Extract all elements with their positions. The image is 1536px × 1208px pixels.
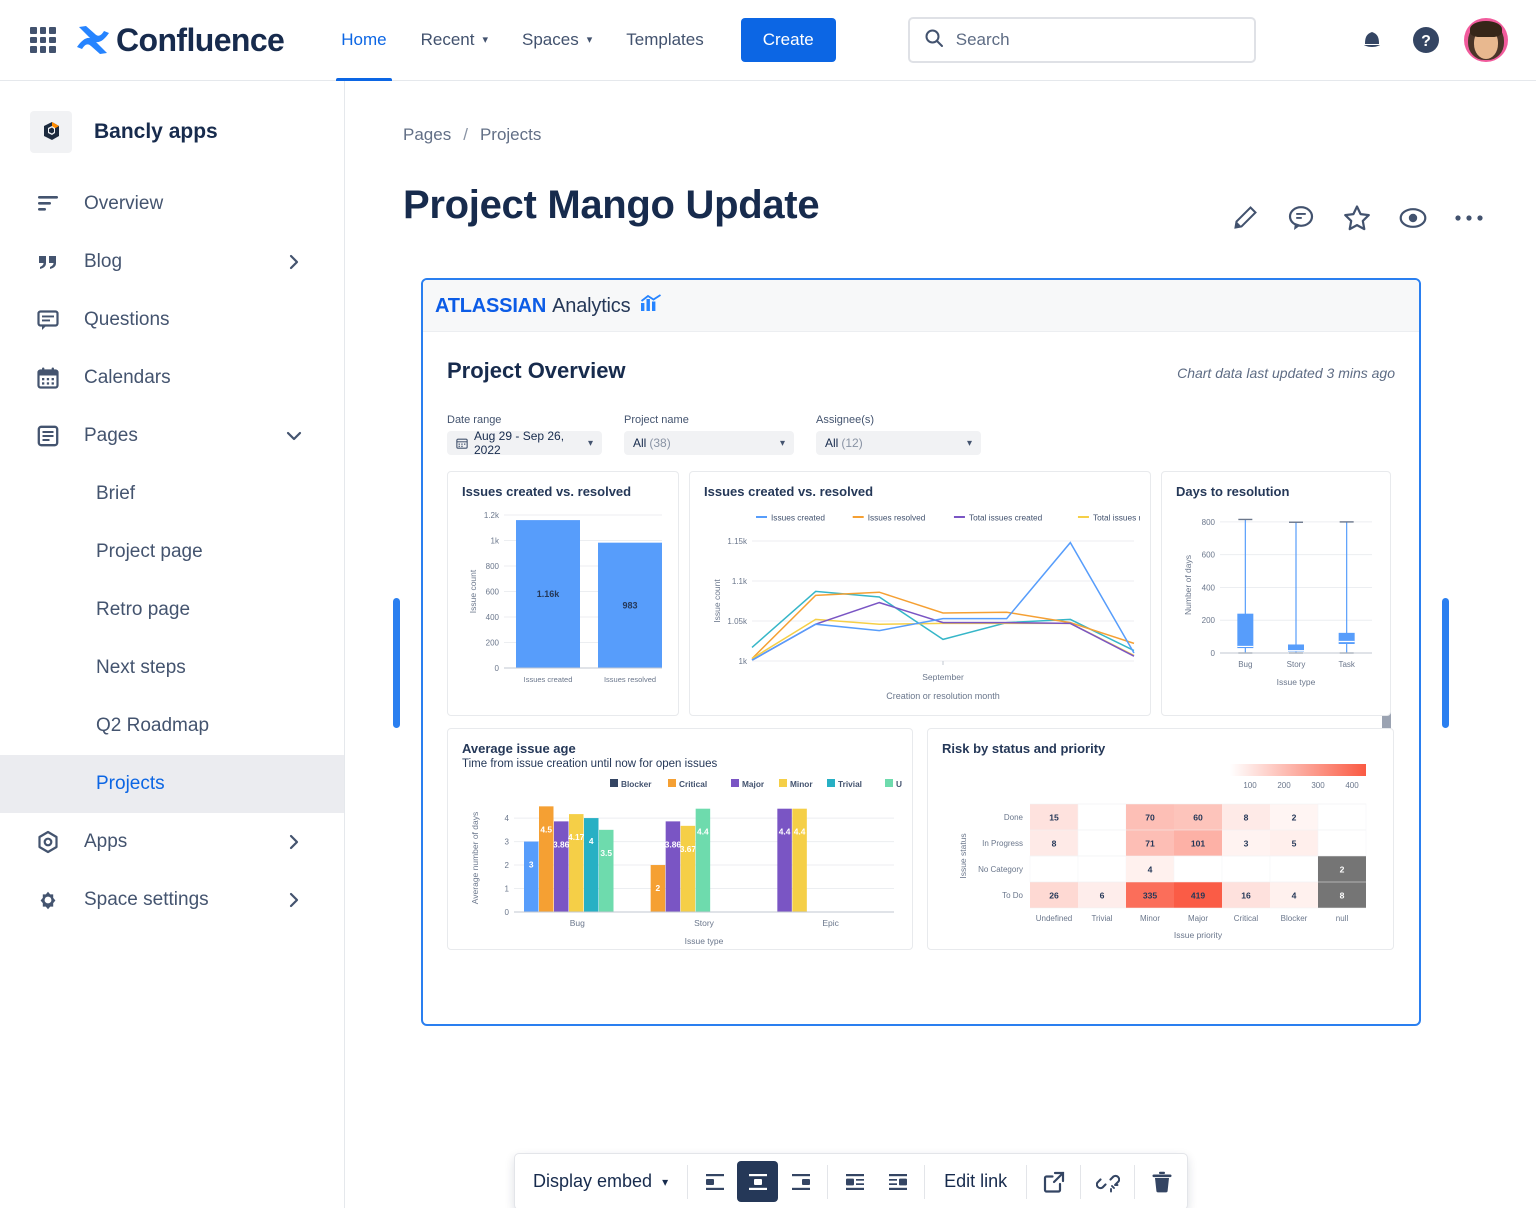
nav-label: Recent [421, 30, 475, 50]
atlassian-analytics-logo: ATLASSIAN Analytics [435, 294, 662, 318]
sidebar-item-questions[interactable]: Questions [0, 291, 344, 349]
svg-text:1.1k: 1.1k [732, 577, 748, 586]
svg-text:1.05k: 1.05k [727, 617, 748, 626]
embed-container: ATLASSIAN Analytics Project Overview Cha… [421, 278, 1421, 1026]
chart-card-issues-created-resolved-line[interactable]: Issues created vs. resolved Issues creat… [689, 471, 1151, 716]
sidebar-item-space-settings[interactable]: Space settings [0, 871, 344, 929]
filter-project-name: Project name All (38) ▾ [624, 414, 794, 455]
svg-text:101: 101 [1191, 838, 1206, 848]
svg-text:100: 100 [1243, 781, 1257, 790]
svg-text:Issue type: Issue type [685, 936, 724, 946]
analytics-embed[interactable]: ATLASSIAN Analytics Project Overview Cha… [421, 278, 1421, 1026]
app-switcher-icon[interactable] [30, 27, 56, 53]
sidebar-item-calendars[interactable]: Calendars [0, 349, 344, 407]
svg-text:Undefined: Undefined [1036, 914, 1072, 923]
chart-title: Days to resolution [1176, 484, 1376, 499]
svg-text:Minor: Minor [1140, 914, 1160, 923]
sidebar-label: Q2 Roadmap [96, 715, 209, 737]
svg-text:Issue type: Issue type [1277, 677, 1316, 687]
blog-quote-icon [36, 250, 66, 274]
comment-icon[interactable] [1286, 203, 1316, 233]
sidebar-label: Brief [96, 483, 135, 505]
more-actions-icon[interactable] [1454, 203, 1484, 233]
chevron-down-icon: ▾ [482, 35, 488, 46]
chart-title: Issues created vs. resolved [704, 484, 1136, 499]
svg-text:600: 600 [486, 588, 500, 597]
svg-text:In Progress: In Progress [982, 839, 1023, 848]
svg-text:Issues created: Issues created [771, 513, 825, 523]
svg-text:200: 200 [1277, 781, 1291, 790]
svg-text:1k: 1k [739, 657, 748, 666]
brand-analytics: Analytics [552, 295, 630, 318]
toolbar-divider [1080, 1165, 1081, 1199]
svg-text:4.4: 4.4 [697, 827, 709, 837]
svg-text:Issue count: Issue count [468, 569, 478, 613]
chart-subtitle: Time from issue creation until now for o… [462, 758, 898, 770]
space-sidebar: Bancly apps Overview Blog Questions [0, 81, 345, 1208]
sidebar-item-next-steps[interactable]: Next steps [0, 639, 344, 697]
sidebar-label: Apps [84, 831, 127, 853]
svg-text:4.17: 4.17 [568, 832, 585, 842]
filter-label: Assignee(s) [816, 414, 981, 426]
dashboard: Project Overview Chart data last updated… [423, 332, 1419, 1026]
svg-text:Minor: Minor [790, 779, 813, 789]
assignees-count: (12) [841, 436, 862, 450]
svg-text:3.67: 3.67 [680, 844, 697, 854]
nav-item-recent[interactable]: Recent ▾ [404, 0, 505, 81]
pages-icon [36, 424, 66, 448]
edit-pencil-icon[interactable] [1230, 203, 1260, 233]
toolbar-divider [827, 1165, 828, 1199]
analytics-chart-icon [640, 294, 662, 317]
svg-text:4.5: 4.5 [540, 824, 552, 834]
svg-text:Epic: Epic [822, 918, 839, 928]
sidebar-item-projects[interactable]: Projects [0, 755, 344, 813]
chevron-right-icon[interactable] [286, 892, 302, 908]
svg-text:Bug: Bug [1238, 660, 1252, 669]
boxplot-svg: 0200400600800BugStoryTaskIssue typeNumbe… [1176, 503, 1380, 711]
gear-icon [36, 888, 66, 912]
svg-text:400: 400 [1345, 781, 1359, 790]
breadcrumb: Pages / Projects [345, 81, 1536, 145]
svg-text:70: 70 [1145, 812, 1155, 822]
chevron-down-icon: ▾ [967, 438, 972, 449]
svg-text:1.16k: 1.16k [537, 589, 561, 599]
chevron-down-icon: ▾ [780, 438, 785, 449]
sidebar-label: Retro page [96, 599, 190, 621]
svg-text:4: 4 [589, 836, 594, 846]
svg-text:Bug: Bug [570, 918, 585, 928]
svg-text:2: 2 [656, 883, 661, 893]
svg-text:6: 6 [1100, 890, 1105, 900]
nav-item-templates[interactable]: Templates [609, 0, 720, 81]
chart-title: Issues created vs. resolved [462, 484, 664, 499]
nav-right-actions: ? [1356, 18, 1508, 62]
avatar[interactable] [1464, 18, 1508, 62]
svg-text:4.4: 4.4 [794, 827, 806, 837]
nav-label: Home [341, 30, 386, 50]
brand-atlassian: ATLASSIAN [435, 295, 546, 318]
sidebar-label: Next steps [96, 657, 186, 679]
svg-text:Trivial: Trivial [838, 779, 862, 789]
svg-text:983: 983 [622, 600, 637, 610]
breadcrumb-projects[interactable]: Projects [480, 125, 541, 145]
confluence-mark-icon [76, 25, 110, 55]
chevron-down-icon: ▾ [588, 438, 593, 449]
svg-text:No Category: No Category [978, 865, 1023, 874]
global-navigation: Confluence Home Recent ▾ Spaces ▾ Templa… [0, 0, 1536, 81]
svg-text:Blocker: Blocker [1281, 914, 1308, 923]
project-name-select[interactable]: All (38) ▾ [624, 431, 794, 455]
svg-text:335: 335 [1143, 890, 1158, 900]
sidebar-label: Space settings [84, 889, 209, 911]
nav-item-spaces[interactable]: Spaces ▾ [505, 0, 609, 81]
date-range-select[interactable]: Aug 29 - Sep 26, 2022 ▾ [447, 431, 602, 455]
svg-text:200: 200 [486, 639, 500, 648]
svg-text:4: 4 [1292, 890, 1297, 900]
toolbar-divider [924, 1165, 925, 1199]
filter-date-range: Date range Aug 29 - Sep 26, 2022 ▾ [447, 414, 602, 455]
svg-text:400: 400 [486, 613, 500, 622]
svg-text:Blocker: Blocker [621, 779, 652, 789]
sidebar-item-pages[interactable]: Pages [0, 407, 344, 465]
brand-name: Confluence [116, 22, 284, 59]
page-content: Pages / Projects Project Mango Update [345, 81, 1536, 1208]
svg-text:419: 419 [1191, 890, 1206, 900]
sidebar-label: Calendars [84, 367, 171, 389]
svg-text:Major: Major [1188, 914, 1208, 923]
svg-text:Critical: Critical [1234, 914, 1259, 923]
svg-text:2: 2 [505, 861, 510, 870]
nav-item-home[interactable]: Home [324, 0, 403, 81]
open-external-icon[interactable] [1033, 1161, 1074, 1202]
primary-nav: Home Recent ▾ Spaces ▾ Templates Create [324, 0, 836, 81]
charts-area: Issues created vs. resolved 020040060080… [447, 471, 1395, 950]
svg-text:Total issues created: Total issues created [969, 513, 1043, 523]
svg-text:Number of days: Number of days [1183, 555, 1193, 615]
svg-text:Issues resolved: Issues resolved [604, 675, 656, 684]
sidebar-label: Questions [84, 309, 170, 331]
svg-text:Done: Done [1004, 813, 1024, 822]
apps-icon [36, 830, 66, 854]
svg-text:1.15k: 1.15k [727, 537, 748, 546]
svg-text:300: 300 [1311, 781, 1325, 790]
svg-text:To Do: To Do [1002, 891, 1023, 900]
svg-text:0: 0 [505, 908, 510, 917]
embed-header: ATLASSIAN Analytics [423, 280, 1419, 332]
svg-text:2: 2 [1292, 812, 1297, 822]
svg-text:71: 71 [1145, 838, 1155, 848]
svg-text:800: 800 [1202, 518, 1216, 527]
line-chart-svg: Issues createdIssues resolvedTotal issue… [704, 503, 1140, 711]
page-actions [1230, 203, 1484, 233]
chevron-right-icon[interactable] [286, 254, 302, 270]
space-name: Bancly apps [94, 120, 218, 144]
trash-icon[interactable] [1141, 1161, 1182, 1202]
chart-card-issues-created-resolved-bar[interactable]: Issues created vs. resolved 020040060080… [447, 471, 679, 716]
sidebar-label: Project page [96, 541, 203, 563]
svg-text:Average number of days: Average number of days [470, 812, 480, 904]
resize-handle-right[interactable] [1442, 598, 1449, 728]
svg-text:4: 4 [505, 814, 510, 823]
assignees-value: All [825, 436, 838, 450]
align-right-button[interactable] [780, 1161, 821, 1202]
toolbar-divider [1134, 1165, 1135, 1199]
watch-eye-icon[interactable] [1398, 203, 1428, 233]
sidebar-item-project-page[interactable]: Project page [0, 523, 344, 581]
svg-text:600: 600 [1202, 551, 1216, 560]
date-range-value: Aug 29 - Sep 26, 2022 [474, 429, 588, 457]
last-updated-text: Chart data last updated 3 mins ago [1177, 365, 1395, 381]
svg-text:5: 5 [1292, 838, 1297, 848]
filter-label: Project name [624, 414, 794, 426]
chart-card-average-issue-age[interactable]: Average issue age Time from issue creati… [447, 728, 913, 950]
svg-text:16: 16 [1241, 890, 1251, 900]
sidebar-item-overview[interactable]: Overview [0, 175, 344, 233]
svg-text:Task: Task [1338, 660, 1355, 669]
svg-text:?: ? [1421, 33, 1431, 50]
sidebar-label: Blog [84, 251, 122, 273]
svg-text:Undefined: Undefined [896, 779, 902, 789]
svg-text:3: 3 [1244, 838, 1249, 848]
svg-text:Trivial: Trivial [1091, 914, 1112, 923]
bell-icon[interactable] [1356, 24, 1388, 56]
heatmap-svg: 100200300400Done15706082In Progress87110… [942, 758, 1384, 948]
confluence-logo[interactable]: Confluence [76, 22, 284, 59]
calendar-icon [36, 366, 66, 390]
display-embed-dropdown[interactable]: Display embed ▾ [519, 1161, 682, 1202]
svg-text:400: 400 [1202, 583, 1216, 592]
space-header[interactable]: Bancly apps [0, 89, 344, 175]
wrap-right-button[interactable] [877, 1161, 918, 1202]
svg-text:4: 4 [1148, 864, 1153, 874]
svg-text:Major: Major [742, 779, 765, 789]
svg-text:1k: 1k [491, 537, 500, 546]
search-icon [924, 28, 944, 53]
grouped-bar-chart-svg: BlockerCriticalMajorMinorTrivialUndefine… [462, 772, 902, 952]
chevron-down-icon: ▾ [587, 35, 593, 46]
calendar-icon [456, 437, 468, 449]
sidebar-label: Overview [84, 193, 163, 215]
nav-label: Templates [626, 30, 703, 50]
search-input[interactable]: Search [908, 17, 1256, 63]
dashboard-filters: Date range Aug 29 - Sep 26, 2022 ▾ Proje… [447, 414, 1395, 455]
create-button[interactable]: Create [741, 18, 836, 62]
svg-text:60: 60 [1193, 812, 1203, 822]
svg-text:Issue status: Issue status [958, 833, 968, 878]
unlink-icon[interactable] [1087, 1161, 1128, 1202]
help-icon[interactable]: ? [1410, 24, 1442, 56]
svg-text:8: 8 [1052, 838, 1057, 848]
chart-title: Average issue age [462, 741, 898, 756]
align-center-button[interactable] [737, 1161, 778, 1202]
svg-text:Issues resolved: Issues resolved [868, 513, 926, 523]
svg-text:200: 200 [1202, 616, 1216, 625]
svg-text:Total issues resolved: Total issues resolved [1093, 513, 1140, 523]
svg-text:8: 8 [1340, 890, 1345, 900]
toolbar-divider [1026, 1165, 1027, 1199]
svg-text:4.4: 4.4 [779, 827, 791, 837]
chart-title: Risk by status and priority [942, 741, 1379, 756]
svg-text:Issue priority: Issue priority [1174, 930, 1223, 940]
chevron-right-icon[interactable] [286, 834, 302, 850]
svg-text:1.2k: 1.2k [484, 511, 500, 520]
sidebar-item-brief[interactable]: Brief [0, 465, 344, 523]
sidebar-label: Projects [96, 773, 165, 795]
sidebar-item-q2-roadmap[interactable]: Q2 Roadmap [0, 697, 344, 755]
questions-icon [36, 308, 66, 332]
breadcrumb-pages[interactable]: Pages [403, 125, 451, 145]
align-left-button[interactable] [694, 1161, 735, 1202]
svg-text:800: 800 [486, 562, 500, 571]
chart-card-risk-by-status-priority[interactable]: Risk by status and priority 100200300400… [927, 728, 1394, 950]
svg-text:3: 3 [505, 838, 510, 847]
breadcrumb-separator: / [463, 125, 468, 145]
star-icon[interactable] [1342, 203, 1372, 233]
svg-text:Issue count: Issue count [712, 579, 722, 623]
svg-text:3.5: 3.5 [600, 848, 612, 858]
svg-text:Critical: Critical [679, 779, 707, 789]
sidebar-item-blog[interactable]: Blog [0, 233, 344, 291]
filter-label: Date range [447, 414, 602, 426]
assignees-select[interactable]: All (12) ▾ [816, 431, 981, 455]
svg-text:1: 1 [505, 885, 510, 894]
project-name-count: (38) [649, 436, 670, 450]
svg-text:8: 8 [1244, 812, 1249, 822]
sidebar-label: Pages [84, 425, 138, 447]
overview-icon [36, 192, 66, 216]
svg-text:null: null [1336, 914, 1349, 923]
wrap-left-button[interactable] [834, 1161, 875, 1202]
svg-text:Story: Story [694, 918, 715, 928]
project-name-value: All [633, 436, 646, 450]
chevron-down-icon[interactable] [286, 428, 302, 444]
svg-text:0: 0 [495, 664, 500, 673]
chevron-down-icon: ▾ [662, 1175, 668, 1189]
svg-text:26: 26 [1049, 890, 1059, 900]
bar-chart-svg: 02004006008001k1.2k1.16kIssues created98… [462, 503, 668, 711]
search-placeholder: Search [956, 30, 1010, 50]
space-avatar-icon [30, 111, 72, 153]
toolbar-divider [687, 1165, 688, 1199]
svg-text:Creation or resolution month: Creation or resolution month [886, 691, 1000, 701]
resize-handle-left[interactable] [393, 598, 400, 728]
display-embed-label: Display embed [533, 1171, 652, 1192]
svg-text:Issues created: Issues created [524, 675, 573, 684]
dashboard-title: Project Overview [447, 358, 626, 384]
filter-assignees: Assignee(s) All (12) ▾ [816, 414, 981, 455]
edit-link-button[interactable]: Edit link [930, 1161, 1021, 1202]
sidebar-item-apps[interactable]: Apps [0, 813, 344, 871]
embed-toolbar: Display embed ▾ Edit link [514, 1153, 1188, 1208]
svg-text:0: 0 [1211, 649, 1216, 658]
svg-text:3: 3 [529, 860, 534, 870]
nav-label: Spaces [522, 30, 579, 50]
svg-text:Story: Story [1287, 660, 1306, 669]
svg-text:15: 15 [1049, 812, 1059, 822]
svg-text:2: 2 [1340, 864, 1345, 874]
dashboard-header: Project Overview Chart data last updated… [447, 358, 1395, 384]
chart-card-days-to-resolution[interactable]: Days to resolution 0200400600800BugStory… [1161, 471, 1391, 716]
svg-text:September: September [922, 672, 964, 682]
sidebar-item-retro-page[interactable]: Retro page [0, 581, 344, 639]
